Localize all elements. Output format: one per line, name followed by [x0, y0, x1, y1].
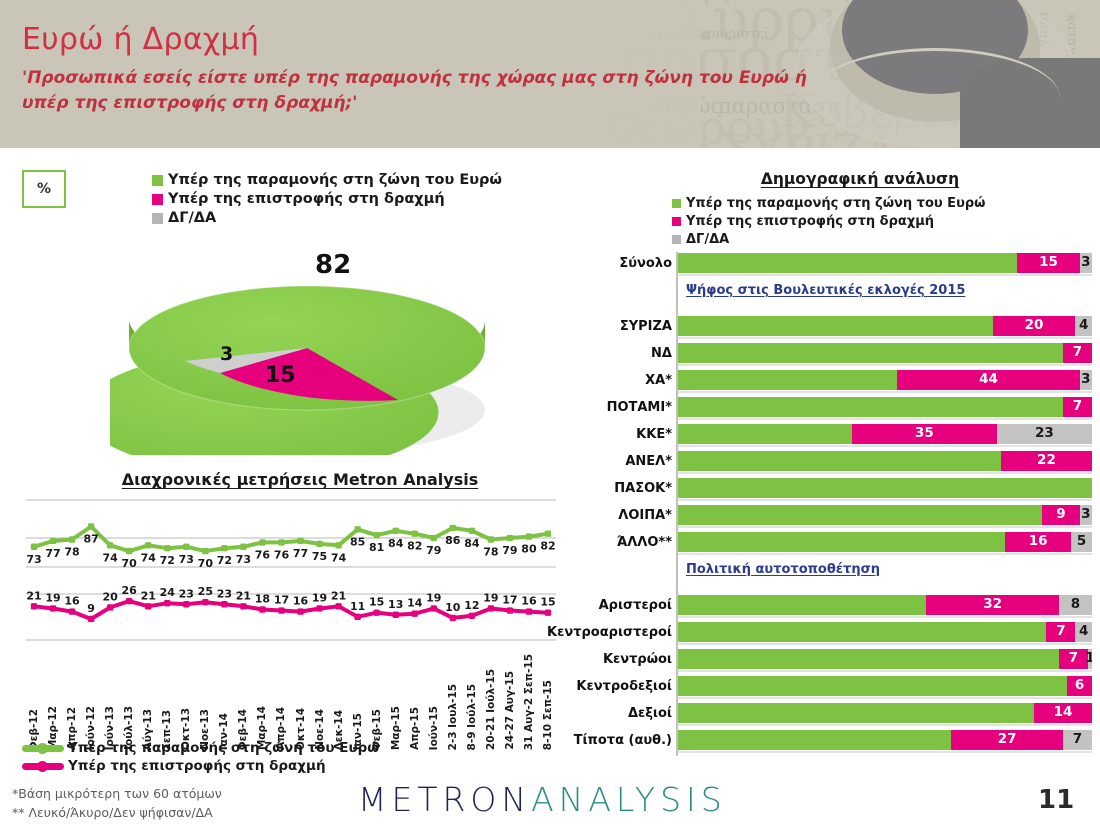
pie-chart-svg	[110, 240, 510, 455]
svg-text:11: 11	[350, 600, 365, 613]
svg-text:15: 15	[540, 596, 555, 609]
svg-text:76: 76	[274, 548, 290, 561]
bar-track: 71	[676, 649, 1092, 669]
bar-row-label: Αριστεροί	[556, 594, 672, 616]
coffee-cup-icon	[830, 0, 1040, 122]
legend-swatch-gray-icon	[672, 235, 681, 244]
bar-track: 3523	[676, 424, 1092, 444]
bar-segment-green	[678, 622, 1046, 642]
svg-text:15: 15	[369, 596, 384, 609]
bar-segment-value: 7	[1073, 400, 1082, 414]
svg-text:18: 18	[255, 593, 270, 606]
legend-item: ΔΓ/ΔΑ	[152, 210, 502, 226]
bar-row: ΝΔ7	[556, 342, 1096, 364]
svg-text:21: 21	[26, 589, 41, 602]
svg-text:20: 20	[102, 590, 118, 603]
svg-text:10: 10	[445, 601, 461, 614]
svg-text:23: 23	[217, 587, 232, 600]
bar-row-separator	[676, 616, 1092, 618]
timeseries-x-label: Ιούν-15	[428, 706, 440, 750]
wordcloud-term: κίνη	[1002, 91, 1015, 120]
logo-part-analysis: ANALYSIS	[531, 780, 727, 819]
pie-value-green: 82	[315, 250, 351, 280]
svg-text:79: 79	[426, 544, 441, 557]
timeseries-x-label: 20-21 Ιούλ-15	[485, 669, 497, 750]
bar-segment-pink: 16	[1005, 532, 1071, 552]
svg-text:78: 78	[483, 546, 498, 559]
footnote-2: ** Λευκό/Άκυρο/Δεν ψήφισαν/ΔΑ	[12, 804, 222, 823]
timeseries-x-axis: Φεβ-12Μαρ-12Απρ-12Ιούν-12Ιούν-13Ιούλ-13Α…	[26, 655, 556, 750]
legend-label: Υπέρ της επιστροφής στη δραχμή	[168, 191, 445, 207]
bar-row: ΠΟΤΑΜΙ*7	[556, 396, 1096, 418]
svg-text:76: 76	[255, 548, 271, 561]
bar-row: ΑΝΕΛ*22	[556, 450, 1096, 472]
bar-row-label: Κεντροαριστεροί	[556, 621, 672, 643]
bar-row: Δεξιοί14	[556, 702, 1096, 724]
bar-track: 165	[676, 532, 1092, 552]
bar-row: ΆΛΛΟ**165	[556, 531, 1096, 553]
bar-segment-pink: 15	[1017, 253, 1079, 273]
bar-segment-pink: 20	[993, 316, 1076, 336]
bar-track: 443	[676, 370, 1092, 390]
bar-section-heading: Πολιτική αυτοτοποθέτηση	[686, 562, 880, 577]
bar-row-separator	[676, 643, 1092, 645]
bar-track: 93	[676, 505, 1092, 525]
bar-segment-green	[678, 343, 1063, 363]
bar-track: 7	[676, 343, 1092, 363]
bar-track: 74	[676, 622, 1092, 642]
svg-text:13: 13	[388, 598, 403, 611]
bar-segment-gray: 4	[1075, 316, 1092, 336]
bar-segment-pink: 7	[1046, 622, 1075, 642]
demographic-bar-chart: Σύνολο153Ψήφος στις Βουλευτικές εκλογές …	[556, 252, 1096, 764]
legend-item: Υπέρ της παραμονής στη ζώνη του Ευρώ	[22, 740, 379, 756]
pie-chart: 82 15 3	[110, 240, 510, 455]
footnotes: *Βάση μικρότερη των 60 ατόμων ** Λευκό/Ά…	[12, 785, 222, 823]
svg-text:75: 75	[312, 550, 327, 563]
bar-row-label: Σύνολο	[556, 252, 672, 274]
svg-text:82: 82	[540, 540, 555, 553]
bar-row-separator	[676, 751, 1092, 753]
bar-segment-value: 6	[1075, 679, 1084, 693]
page-title: Ευρώ ή Δραχμή	[22, 22, 259, 57]
timeseries-x-label: Απρ-15	[409, 707, 421, 750]
bar-segment-value: 5	[1077, 535, 1086, 549]
bar-segment-value: 22	[1037, 454, 1056, 468]
svg-text:74: 74	[141, 551, 157, 564]
legend-item: Υπέρ της παραμονής στη ζώνη του Ευρώ	[672, 196, 985, 211]
bar-segment-value: 4	[1079, 625, 1088, 639]
bar-segment-gray: 3	[1080, 253, 1092, 273]
pie-value-pink: 15	[265, 363, 296, 388]
svg-text:24: 24	[160, 586, 176, 599]
bar-segment-value: 7	[1056, 625, 1065, 639]
svg-text:26: 26	[122, 584, 138, 597]
bar-segment-value: 1	[1085, 652, 1092, 666]
bar-segment-value: 44	[979, 373, 998, 387]
bar-row-label: ΠΑΣΟΚ*	[556, 477, 672, 499]
footnote-1: *Βάση μικρότερη των 60 ατόμων	[12, 785, 222, 804]
legend-item: Υπέρ της επιστροφής στη δραχμή	[22, 758, 379, 774]
timeseries-x-label: 8-10 Σεπ-15	[542, 680, 554, 750]
svg-text:77: 77	[45, 547, 60, 560]
svg-text:78: 78	[64, 546, 79, 559]
bar-segment-value: 16	[1029, 535, 1048, 549]
bar-segment-gray: 3	[1080, 370, 1092, 390]
bar-track: 204	[676, 316, 1092, 336]
bar-segment-value: 32	[983, 598, 1002, 612]
legend-label: Υπέρ της επιστροφής στη δραχμή	[68, 758, 326, 774]
bar-row-separator	[676, 526, 1092, 528]
coffee-liquid	[842, 0, 1028, 94]
percent-unit-box: %	[22, 170, 66, 208]
legend-swatch-green-icon	[152, 175, 163, 186]
legend-label: ΔΓ/ΔΑ	[686, 232, 729, 247]
page-subtitle: 'Προσωπικά εσείς είστε υπέρ της παραμονή…	[22, 66, 812, 115]
bar-row: Κεντρώοι71	[556, 648, 1096, 670]
bar-row: ΚΚΕ*3523	[556, 423, 1096, 445]
page-number: 11	[1038, 785, 1074, 815]
bar-row-separator	[676, 337, 1092, 339]
svg-text:77: 77	[293, 547, 308, 560]
legend-line-green-icon	[22, 745, 64, 752]
bar-row-label: Κεντροδεξιοί	[556, 675, 672, 697]
wordcloud-term: μεταβο	[1020, 78, 1095, 99]
bar-segment-pink: 22	[1001, 451, 1092, 471]
svg-text:12: 12	[464, 599, 479, 612]
bar-segment-pink: 6	[1067, 676, 1092, 696]
bar-row: ΣΥΡΙΖΑ204	[556, 315, 1096, 337]
timeseries-x-label: 24-27 Αυγ-15	[504, 671, 516, 750]
timeseries-x-label: 2-3 Ιουλ-15	[447, 684, 459, 750]
svg-text:86: 86	[445, 534, 461, 547]
bar-segment-value: 20	[1025, 319, 1044, 333]
timeseries-chart: 7377788774707472737072737676777574858184…	[26, 492, 556, 652]
bar-row-separator	[676, 274, 1092, 276]
bar-row-label: Κεντρώοι	[556, 648, 672, 670]
svg-text:82: 82	[407, 540, 422, 553]
legend-item: ΔΓ/ΔΑ	[672, 232, 985, 247]
legend-label: Υπέρ της παραμονής στη ζώνη του Ευρώ	[686, 196, 985, 211]
bar-segment-pink: 7	[1063, 343, 1092, 363]
legend-swatch-pink-icon	[672, 217, 681, 226]
legend-label: Υπέρ της παραμονής στη ζώνη του Ευρώ	[168, 172, 502, 188]
bar-segment-pink: 27	[951, 730, 1063, 750]
timeseries-title: Διαχρονικές μετρήσεις Metron Analysis	[110, 470, 490, 489]
bar-track: 7	[676, 397, 1092, 417]
bar-segment-value: 9	[1056, 508, 1065, 522]
bar-row-separator	[676, 391, 1092, 393]
bar-segment-gray: 1	[1088, 649, 1092, 669]
bar-segment-gray: 3	[1080, 505, 1092, 525]
svg-text:19: 19	[45, 591, 60, 604]
bar-segment-value: 7	[1073, 733, 1082, 747]
bar-row-separator	[676, 364, 1092, 366]
bar-segment-value: 3	[1081, 373, 1090, 387]
bar-row-separator	[676, 670, 1092, 672]
coffee-saucer-icon	[795, 0, 1075, 148]
bar-track	[676, 478, 1092, 498]
pie-value-gray: 3	[220, 343, 233, 365]
svg-text:25: 25	[198, 585, 213, 598]
bar-segment-gray: 5	[1071, 532, 1092, 552]
legend-swatch-green-icon	[672, 199, 681, 208]
wordcloud-term: ερρίπτο	[969, 12, 982, 63]
legend-label: Υπέρ της παραμονής στη ζώνη του Ευρώ	[68, 740, 379, 756]
bar-segment-value: 7	[1069, 652, 1078, 666]
svg-text:16: 16	[521, 595, 537, 608]
bar-row: ΠΑΣΟΚ*	[556, 477, 1096, 499]
bar-row: ΧΑ*443	[556, 369, 1096, 391]
bar-segment-green	[678, 649, 1059, 669]
svg-text:79: 79	[502, 544, 517, 557]
bar-row: Κεντροαριστεροί74	[556, 621, 1096, 643]
bar-track: 6	[676, 676, 1092, 696]
bar-segment-pink: 44	[897, 370, 1079, 390]
legend-line-pink-icon	[22, 763, 64, 770]
bar-row-label: ΚΚΕ*	[556, 423, 672, 445]
svg-text:70: 70	[122, 557, 138, 570]
bar-segment-pink: 7	[1063, 397, 1092, 417]
svg-text:21: 21	[236, 589, 251, 602]
svg-text:72: 72	[160, 554, 175, 567]
bar-segment-green	[678, 595, 926, 615]
bar-track: 153	[676, 253, 1092, 273]
bar-track: 14	[676, 703, 1092, 723]
bar-segment-gray: 8	[1059, 595, 1092, 615]
bar-row: Σύνολο153	[556, 252, 1096, 274]
legend-swatch-gray-icon	[152, 213, 163, 224]
bar-segment-value: 23	[1035, 427, 1054, 441]
bar-track: 328	[676, 595, 1092, 615]
svg-text:74: 74	[331, 551, 347, 564]
bar-segment-green	[678, 424, 852, 444]
timeseries-legend: Υπέρ της παραμονής στη ζώνη του Ευρώ Υπέ…	[22, 740, 379, 776]
bar-segment-green	[678, 451, 1001, 471]
bar-row: Κεντροδεξιοί6	[556, 675, 1096, 697]
bar-chart-axis	[676, 252, 678, 756]
svg-text:73: 73	[236, 553, 251, 566]
demographic-title: Δημογραφική ανάλυση	[700, 170, 1020, 188]
bar-segment-green	[678, 703, 1034, 723]
bar-segment-value: 4	[1079, 319, 1088, 333]
bar-row-label: ΑΝΕΛ*	[556, 450, 672, 472]
svg-text:9: 9	[87, 602, 95, 615]
bar-segment-green	[678, 505, 1042, 525]
bar-segment-value: 27	[998, 733, 1017, 747]
bar-row-separator	[676, 724, 1092, 726]
bar-segment-gray: 23	[997, 424, 1092, 444]
svg-text:21: 21	[141, 589, 156, 602]
wordcloud-term: ΣΥΡΙΖΑ	[720, 128, 897, 148]
metron-analysis-logo: METRONANALYSIS	[358, 780, 727, 819]
timeseries-x-label: Μαρ-15	[390, 706, 402, 750]
svg-text:19: 19	[426, 591, 441, 604]
bar-segment-value: 3	[1081, 508, 1090, 522]
bar-row-label: ΝΔ	[556, 342, 672, 364]
bar-row-label: ΆΛΛΟ**	[556, 531, 672, 553]
bar-row-separator	[676, 418, 1092, 420]
svg-text:23: 23	[179, 587, 194, 600]
svg-text:81: 81	[369, 541, 384, 554]
svg-text:21: 21	[331, 589, 346, 602]
bar-segment-pink: 14	[1034, 703, 1092, 723]
svg-text:74: 74	[102, 551, 118, 564]
bar-segment-value: 3	[1081, 256, 1090, 270]
bar-row: Τίποτα (αυθ.)277	[556, 729, 1096, 751]
logo-part-metron: METRON	[358, 780, 531, 819]
bar-track: 22	[676, 451, 1092, 471]
svg-text:16: 16	[293, 595, 309, 608]
svg-text:70: 70	[198, 557, 214, 570]
legend-item: Υπέρ της επιστροφής στη δραχμή	[672, 214, 985, 229]
bar-segment-pink: 32	[926, 595, 1058, 615]
timeseries-svg: 7377788774707472737072737676777574858184…	[26, 492, 556, 652]
bar-row-separator	[676, 472, 1092, 474]
bar-segment-value: 8	[1071, 598, 1080, 612]
svg-text:80: 80	[521, 543, 537, 556]
timeseries-x-label: 8-9 Ιούλ-15	[466, 684, 478, 750]
bar-segment-gray: 7	[1063, 730, 1092, 750]
bar-row: ΛΟΙΠΑ*93	[556, 504, 1096, 526]
coffee-cup-shadow	[960, 58, 1100, 148]
saucer-rim-arc	[810, 48, 1060, 148]
svg-text:87: 87	[83, 532, 98, 545]
svg-text:84: 84	[388, 537, 404, 550]
svg-text:72: 72	[217, 554, 232, 567]
legend-label: Υπέρ της επιστροφής στη δραχμή	[686, 214, 934, 229]
bar-track: 277	[676, 730, 1092, 750]
legend-item: Υπέρ της επιστροφής στη δραχμή	[152, 191, 502, 207]
svg-text:73: 73	[179, 553, 194, 566]
wordcloud-term: τριπλ	[1037, 10, 1050, 47]
svg-text:17: 17	[502, 594, 517, 607]
bar-row-label: ΛΟΙΠΑ*	[556, 504, 672, 526]
svg-text:73: 73	[26, 553, 41, 566]
bar-row-separator	[676, 445, 1092, 447]
svg-text:14: 14	[407, 597, 423, 610]
bar-segment-value: 15	[1039, 256, 1058, 270]
bar-row-separator	[676, 553, 1092, 555]
bar-segment-green	[678, 316, 993, 336]
bar-row-separator	[676, 697, 1092, 699]
wordcloud-term: καταγραφ	[1065, 14, 1078, 80]
demographic-legend: Υπέρ της παραμονής στη ζώνη του Ευρώ Υπέ…	[672, 196, 985, 250]
bar-segment-value: 14	[1054, 706, 1073, 720]
bar-segment-gray: 4	[1075, 622, 1092, 642]
bar-row: Αριστεροί328	[556, 594, 1096, 616]
slide-root: Σύρριζα έχουν περιοριστεί ποσοστό σαφώς …	[0, 0, 1100, 825]
bar-segment-pink: 7	[1059, 649, 1088, 669]
bar-segment-value: 7	[1073, 346, 1082, 360]
legend-item: Υπέρ της παραμονής στη ζώνη του Ευρώ	[152, 172, 502, 188]
bar-segment-green	[678, 730, 951, 750]
bar-segment-green	[678, 676, 1067, 696]
bar-segment-green	[678, 370, 897, 390]
pie-legend: Υπέρ της παραμονής στη ζώνη του Ευρώ Υπέ…	[152, 172, 502, 229]
timeseries-x-label: 31 Αυγ-2 Σεπ-15	[523, 654, 535, 750]
slide-header: Σύρριζα έχουν περιοριστεί ποσοστό σαφώς …	[0, 0, 1100, 148]
svg-text:17: 17	[274, 594, 289, 607]
wordcloud-term: Κυβέρνηση	[780, 88, 1034, 134]
svg-text:19: 19	[312, 591, 327, 604]
svg-text:84: 84	[464, 537, 480, 550]
bar-segment-green	[678, 478, 1092, 498]
bar-row-label: ΧΑ*	[556, 369, 672, 391]
bar-segment-green	[678, 397, 1063, 417]
bar-row-label: Τίποτα (αυθ.)	[556, 729, 672, 751]
bar-segment-green	[678, 253, 1017, 273]
bar-section-heading: Ψήφος στις Βουλευτικές εκλογές 2015	[686, 283, 965, 298]
legend-swatch-pink-icon	[152, 194, 163, 205]
bar-row-label: Δεξιοί	[556, 702, 672, 724]
bar-row-label: ΣΥΡΙΖΑ	[556, 315, 672, 337]
wordcloud-term: Σύρριζα	[670, 0, 916, 50]
svg-text:85: 85	[350, 535, 365, 548]
bar-segment-pink: 35	[852, 424, 997, 444]
bar-row-separator	[676, 499, 1092, 501]
svg-text:19: 19	[483, 591, 498, 604]
bar-segment-pink: 9	[1042, 505, 1079, 525]
svg-text:16: 16	[64, 595, 80, 608]
bar-segment-value: 35	[915, 427, 934, 441]
bar-segment-green	[678, 532, 1005, 552]
legend-label: ΔΓ/ΔΑ	[168, 210, 216, 226]
bar-row-label: ΠΟΤΑΜΙ*	[556, 396, 672, 418]
